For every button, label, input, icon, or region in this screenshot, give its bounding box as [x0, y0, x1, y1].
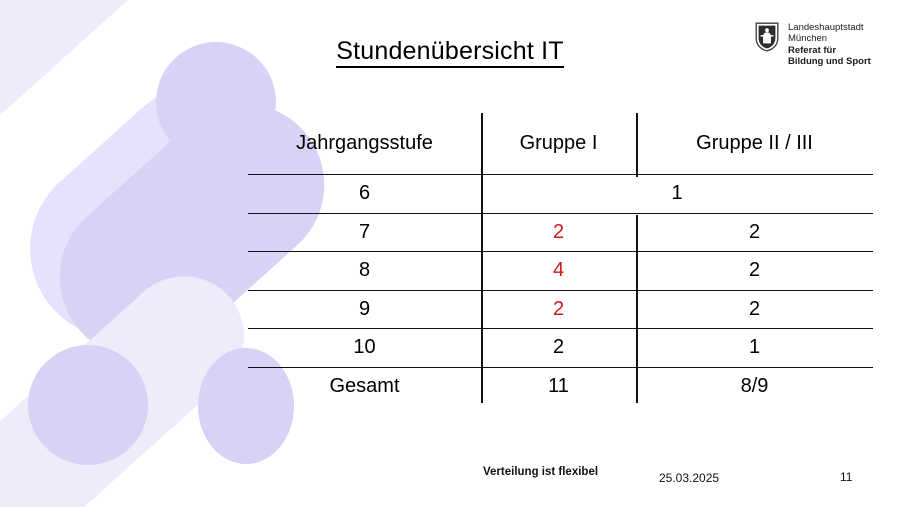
logo-line-1: Landeshauptstadt	[788, 22, 871, 33]
column-header-gruppe-1: Gruppe I	[481, 113, 636, 175]
cell-gruppe-2-3: 1	[636, 329, 873, 368]
table-total-row: Gesamt 11 8/9	[248, 367, 873, 405]
decor-band-faint-bottom	[0, 252, 269, 507]
footer-note: Verteilung ist flexibel	[483, 466, 598, 478]
slide-canvas: Stundenübersicht IT Landeshauptstadt Mün…	[0, 0, 900, 507]
cell-gruppe-2-3: 2	[636, 290, 873, 329]
table-row: 7 2 2	[248, 213, 873, 252]
table-vertical-divider-2-upper	[636, 113, 638, 177]
hours-overview-table-wrapper: Jahrgangsstufe Gruppe I Gruppe II / III …	[248, 113, 873, 405]
table-header-row: Jahrgangsstufe Gruppe I Gruppe II / III	[248, 113, 873, 175]
cell-gruppe-1: 2	[481, 329, 636, 368]
cell-jahrgangsstufe: 6	[248, 175, 481, 214]
cell-gruppe-1: 2	[481, 290, 636, 329]
cell-jahrgangsstufe: 7	[248, 213, 481, 252]
table-body: Jahrgangsstufe Gruppe I Gruppe II / III …	[248, 113, 873, 405]
logo-line-2: München	[788, 33, 871, 44]
table-row: 6 1	[248, 175, 873, 214]
table-vertical-divider-1	[481, 113, 483, 403]
table-vertical-divider-2-lower	[636, 215, 638, 403]
cell-gruppe-1-total: 11	[481, 367, 636, 405]
hours-overview-table: Jahrgangsstufe Gruppe I Gruppe II / III …	[248, 113, 873, 405]
table-row: 9 2 2	[248, 290, 873, 329]
page-title-text: Stundenübersicht IT	[336, 37, 564, 68]
column-header-jahrgangsstufe: Jahrgangsstufe	[248, 113, 481, 175]
decor-circle-bottom	[28, 345, 148, 465]
footer-date: 25.03.2025	[659, 471, 719, 485]
cell-jahrgangsstufe: 9	[248, 290, 481, 329]
organization-logo: Landeshauptstadt München Referat für Bil…	[755, 22, 871, 67]
cell-gruppe-2-3-total: 8/9	[636, 367, 873, 405]
table-row: 10 2 1	[248, 329, 873, 368]
munich-coat-of-arms-icon	[755, 22, 779, 52]
cell-merged-gruppen: 1	[481, 175, 873, 214]
logo-line-4: Bildung und Sport	[788, 56, 871, 67]
cell-jahrgangsstufe: 8	[248, 252, 481, 291]
logo-text-block: Landeshauptstadt München Referat für Bil…	[788, 22, 871, 67]
cell-gruppe-2-3: 2	[636, 213, 873, 252]
logo-line-3: Referat für	[788, 45, 871, 56]
table-row: 8 4 2	[248, 252, 873, 291]
cell-jahrgangsstufe-total: Gesamt	[248, 367, 481, 405]
cell-gruppe-2-3: 2	[636, 252, 873, 291]
cell-gruppe-1: 2	[481, 213, 636, 252]
cell-gruppe-1: 4	[481, 252, 636, 291]
footer-page-number: 11	[840, 470, 852, 484]
column-header-gruppe-2-3: Gruppe II / III	[636, 113, 873, 175]
cell-jahrgangsstufe: 10	[248, 329, 481, 368]
